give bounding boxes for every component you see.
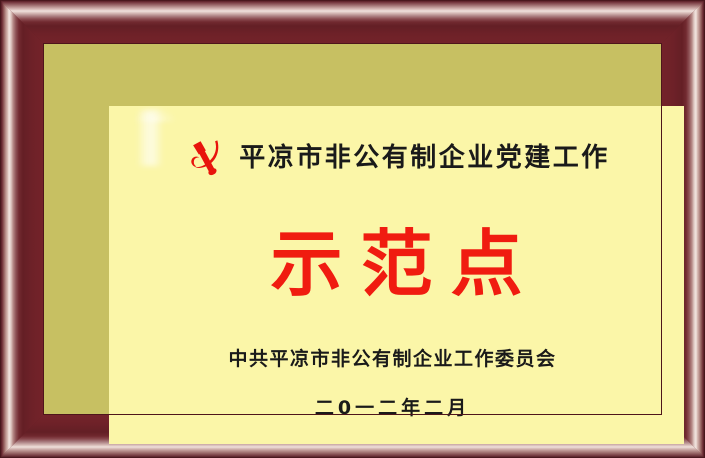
award-plaque: 平凉市非公有制企业党建工作 示范点 中共平凉市非公有制企业工作委员会 二0一二年… (0, 0, 705, 458)
title-row: 平凉市非公有制企业党建工作 (109, 136, 684, 180)
frame-side-top (0, 0, 705, 45)
frame-side-left (0, 0, 45, 458)
issue-date: 二0一二年二月 (109, 399, 684, 418)
plaque-title: 平凉市非公有制企业党建工作 (239, 145, 610, 171)
plaque-headline: 示范点 (109, 228, 684, 300)
cpc-hammer-sickle-icon (183, 136, 227, 180)
plaque-mat-border: 平凉市非公有制企业党建工作 示范点 中共平凉市非公有制企业工作委员会 二0一二年… (44, 44, 661, 414)
plaque-face: 平凉市非公有制企业党建工作 示范点 中共平凉市非公有制企业工作委员会 二0一二年… (109, 106, 684, 444)
issuing-organization: 中共平凉市非公有制企业工作委员会 (109, 350, 684, 369)
gloss-reflection-top (133, 106, 177, 122)
